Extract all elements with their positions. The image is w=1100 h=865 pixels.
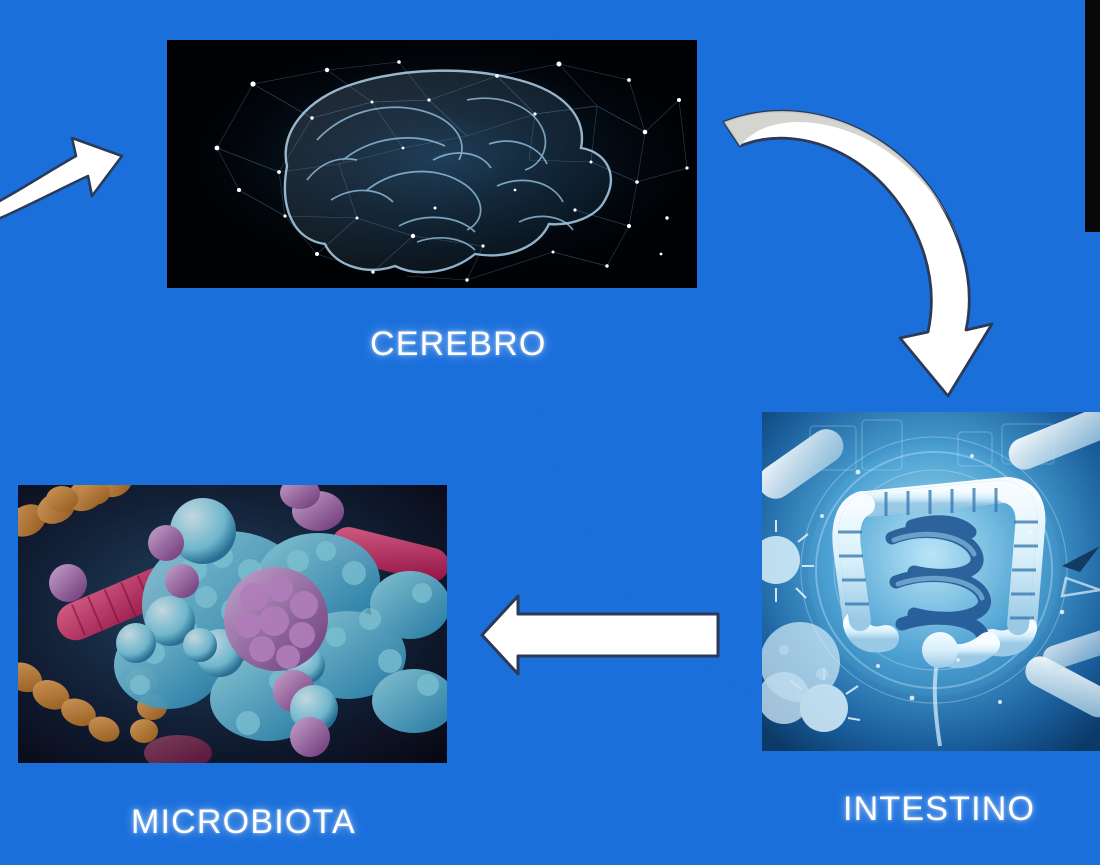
- brain-neural-network-image: [167, 40, 697, 288]
- intestine-illustration: [762, 412, 1100, 751]
- intestine-gut-image: [762, 412, 1100, 751]
- microbiota-illustration: [18, 485, 447, 763]
- microbiota-bacteria-image: [18, 485, 447, 763]
- label-intestino: INTESTINO: [843, 790, 1035, 829]
- arrow-cerebro-to-intestino: [700, 80, 1000, 410]
- slide-canvas: CEREBRO MICROBIOTA INTESTINO: [0, 0, 1100, 865]
- arrow-microbiota-to-cerebro: [0, 112, 158, 222]
- arrow-intestino-to-microbiota: [470, 580, 760, 690]
- label-cerebro: CEREBRO: [370, 325, 547, 364]
- label-microbiota: MICROBIOTA: [131, 803, 356, 842]
- brain-illustration: [167, 40, 697, 288]
- black-edge-strip: [1085, 0, 1100, 232]
